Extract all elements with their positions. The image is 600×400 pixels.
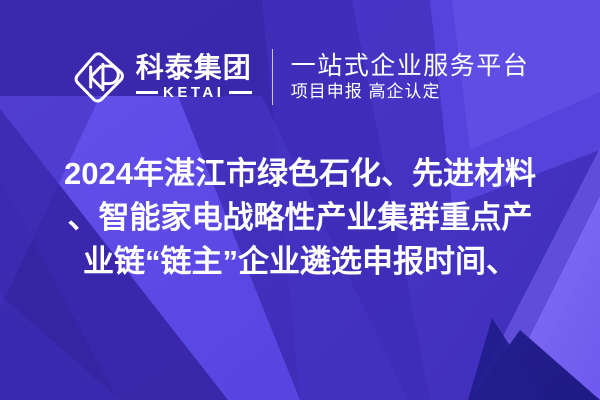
header-divider <box>272 49 273 105</box>
brand-header: 科泰集团 KETAI 一站式企业服务平台 项目申报 高企认定 <box>0 38 600 116</box>
tagline-block: 一站式企业服务平台 项目申报 高企认定 <box>291 53 530 101</box>
ketai-diamond-kp-monogram-icon <box>71 49 127 105</box>
logo[interactable]: 科泰集团 KETAI <box>71 49 252 105</box>
logo-english-name: KETAI <box>163 85 224 100</box>
logo-wordmark: 科泰集团 KETAI <box>136 54 252 101</box>
headline-block: 2024年湛江市绿色石化、先进材料 、智能家电战略性产业集群重点产 业链“链主”… <box>0 152 600 284</box>
promo-banner: 科泰集团 KETAI 一站式企业服务平台 项目申报 高企认定 2024年湛江市绿… <box>0 0 600 400</box>
headline-line-3: 业链“链主”企业遴选申报时间、 <box>18 240 582 284</box>
headline-line-2: 、智能家电战略性产业集群重点产 <box>18 196 582 240</box>
logo-rule-right <box>229 91 251 94</box>
tagline-main: 一站式企业服务平台 <box>291 53 530 79</box>
logo-chinese-name: 科泰集团 <box>136 54 252 83</box>
tagline-sub: 项目申报 高企认定 <box>291 83 530 101</box>
logo-english-row: KETAI <box>136 85 252 100</box>
logo-rule-left <box>136 91 158 94</box>
headline-line-1: 2024年湛江市绿色石化、先进材料 <box>18 152 582 196</box>
